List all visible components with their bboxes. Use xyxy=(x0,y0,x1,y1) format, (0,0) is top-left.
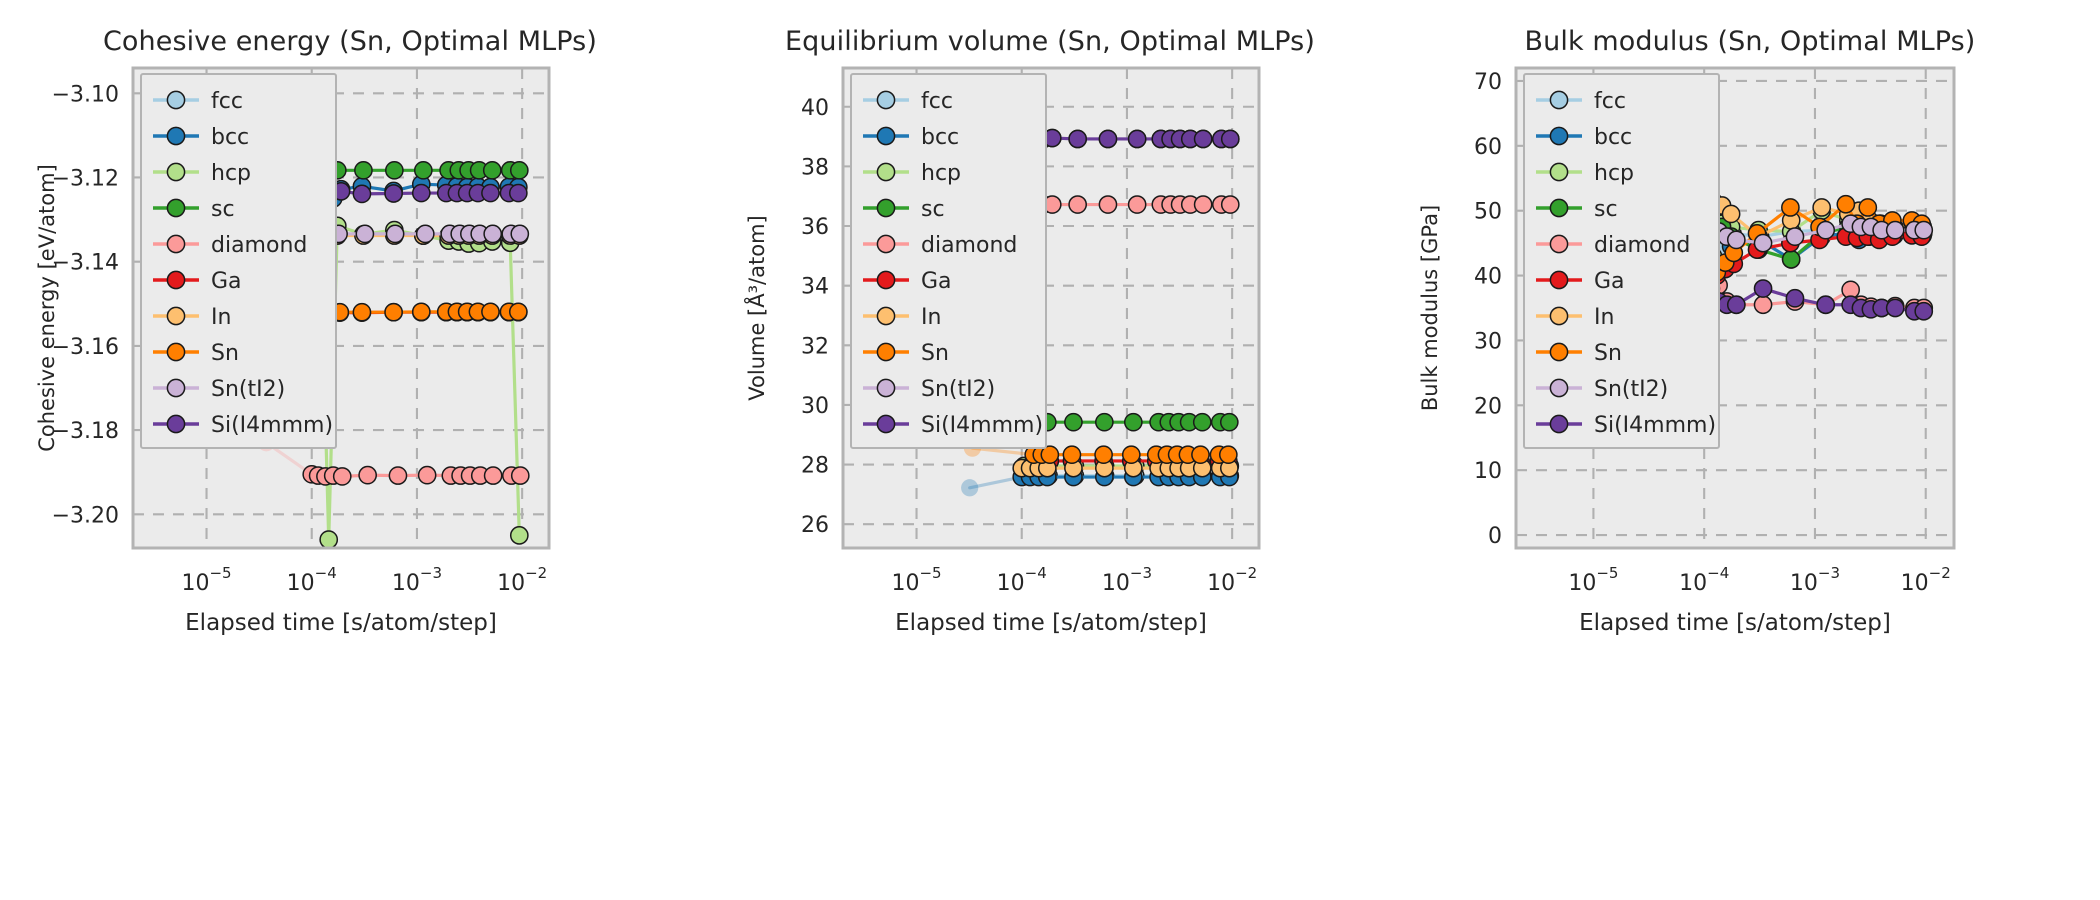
y-tick-label: −3.20 xyxy=(52,503,119,528)
legend: fccbcchcpscdiamondGaInSnSn(tI2)Si(I4mmm) xyxy=(141,74,336,448)
x-tick-label: 10−5 xyxy=(1568,564,1618,596)
y-axis-label: Bulk modulus [GPa] xyxy=(1418,205,1442,411)
data-point xyxy=(385,304,402,321)
legend-marker xyxy=(877,379,894,396)
y-tick-label: −3.18 xyxy=(52,419,119,444)
x-tick-label: 10−5 xyxy=(891,564,941,596)
legend-marker xyxy=(167,415,184,432)
data-point xyxy=(485,467,502,484)
legend-marker xyxy=(877,199,894,216)
y-tick-label: 10 xyxy=(1474,459,1502,484)
data-point xyxy=(386,225,403,242)
data-point xyxy=(1065,414,1082,431)
data-point xyxy=(1099,196,1116,213)
data-point xyxy=(1786,228,1803,245)
data-point xyxy=(1915,303,1932,320)
data-point xyxy=(1723,205,1740,222)
y-tick-label: 40 xyxy=(801,96,829,121)
data-point xyxy=(1129,196,1146,213)
data-point xyxy=(484,162,501,179)
y-tick-label: 50 xyxy=(1474,200,1502,225)
data-point xyxy=(1887,299,1904,316)
x-tick-label: 10−3 xyxy=(1790,564,1840,596)
data-point xyxy=(511,527,528,544)
x-tick-label: 10−4 xyxy=(997,564,1047,596)
data-point xyxy=(961,479,978,496)
legend-label: Ga xyxy=(1594,269,1625,294)
legend-marker xyxy=(167,127,184,144)
y-tick-label: 40 xyxy=(1474,265,1502,290)
data-point xyxy=(484,225,501,242)
legend-label: Sn xyxy=(211,341,239,366)
legend-marker xyxy=(167,235,184,252)
legend-label: bcc xyxy=(211,125,249,150)
plot-area: −3.10−3.12−3.14−3.16−3.18−3.2010−510−410… xyxy=(133,68,669,658)
plot-area: 70605040302010010−510−410−310−2fccbcchcp… xyxy=(1516,68,2074,658)
legend-label: fcc xyxy=(1594,89,1626,114)
legend-marker xyxy=(1550,91,1567,108)
data-point xyxy=(1069,196,1086,213)
data-point xyxy=(1754,235,1771,252)
legend-label: hcp xyxy=(211,161,251,186)
figure-canvas: Cohesive energy (Sn, Optimal MLPs)Cohesi… xyxy=(0,0,2100,900)
x-tick-labels: 10−510−410−310−2 xyxy=(1568,564,1950,596)
data-point xyxy=(419,467,436,484)
data-point xyxy=(1813,199,1830,216)
legend-label: Sn(tI2) xyxy=(921,377,995,402)
y-axis-label: Volume [Å³/atom] xyxy=(745,215,769,400)
y-tick-label: 34 xyxy=(801,275,829,300)
data-point xyxy=(1915,222,1932,239)
legend-marker xyxy=(877,307,894,324)
data-point xyxy=(510,184,527,201)
chart-title: Cohesive energy (Sn, Optimal MLPs) xyxy=(0,26,700,57)
y-axis-label: Cohesive energy [eV/atom] xyxy=(35,164,59,452)
legend-label: hcp xyxy=(1594,161,1634,186)
data-point xyxy=(1817,222,1834,239)
legend-marker xyxy=(877,163,894,180)
data-point xyxy=(1754,280,1771,297)
y-tick-label: 28 xyxy=(801,454,829,479)
data-point xyxy=(1192,446,1209,463)
data-point xyxy=(1096,414,1113,431)
legend-marker xyxy=(1550,343,1567,360)
legend-marker xyxy=(167,307,184,324)
data-point xyxy=(1786,290,1803,307)
legend-marker xyxy=(1550,235,1567,252)
data-point xyxy=(1754,296,1771,313)
data-point xyxy=(1222,196,1239,213)
y-tick-label: 70 xyxy=(1474,70,1502,95)
legend-marker xyxy=(167,91,184,108)
data-point xyxy=(1123,446,1140,463)
legend-marker xyxy=(1550,379,1567,396)
y-tick-label: 60 xyxy=(1474,135,1502,160)
y-tick-label: 20 xyxy=(1474,394,1502,419)
y-tick-label: 0 xyxy=(1488,524,1502,549)
data-point xyxy=(511,225,528,242)
legend-label: bcc xyxy=(1594,125,1632,150)
legend-marker xyxy=(877,91,894,108)
data-point xyxy=(1782,199,1799,216)
data-point xyxy=(510,303,527,320)
legend-marker xyxy=(167,271,184,288)
data-point xyxy=(1728,296,1745,313)
data-point xyxy=(320,531,337,548)
data-point xyxy=(334,468,351,485)
data-point xyxy=(413,184,430,201)
legend-label: fcc xyxy=(921,89,953,114)
legend-marker xyxy=(877,271,894,288)
x-tick-labels: 10−510−410−310−2 xyxy=(891,564,1257,596)
data-point xyxy=(482,184,499,201)
legend-label: Ga xyxy=(211,269,242,294)
x-tick-label: 10−4 xyxy=(287,564,337,596)
legend-marker xyxy=(1550,271,1567,288)
data-point xyxy=(413,303,430,320)
legend-label: sc xyxy=(211,197,235,222)
legend-label: sc xyxy=(921,197,945,222)
data-point xyxy=(386,162,403,179)
data-point xyxy=(1817,296,1834,313)
y-tick-label: −3.12 xyxy=(52,166,119,191)
y-tick-label: 26 xyxy=(801,513,829,538)
data-point xyxy=(359,467,376,484)
legend-marker xyxy=(877,127,894,144)
y-tick-labels: 706050403020100 xyxy=(1474,70,1502,549)
chart-title: Bulk modulus (Sn, Optimal MLPs) xyxy=(1400,26,2100,57)
chart-title: Equilibrium volume (Sn, Optimal MLPs) xyxy=(700,26,1400,57)
x-tick-labels: 10−510−410−310−2 xyxy=(181,564,547,596)
y-tick-labels: 4038363432302826 xyxy=(801,96,829,538)
legend-label: Si(I4mmm) xyxy=(921,413,1043,438)
legend-label: bcc xyxy=(921,125,959,150)
data-point xyxy=(512,467,529,484)
x-tick-label: 10−3 xyxy=(1102,564,1152,596)
data-point xyxy=(1069,130,1086,147)
legend: fccbcchcpscdiamondGaInSnSn(tI2)Si(I4mmm) xyxy=(851,74,1046,448)
data-point xyxy=(385,185,402,202)
x-tick-label: 10−4 xyxy=(1679,564,1729,596)
legend-label: Sn(tI2) xyxy=(211,377,285,402)
legend-label: Sn xyxy=(1594,341,1622,366)
legend-label: Si(I4mmm) xyxy=(1594,413,1716,438)
legend-label: Sn xyxy=(921,341,949,366)
legend-label: In xyxy=(211,305,231,330)
legend-label: Ga xyxy=(921,269,952,294)
chart-panel-cohesive-energy: Cohesive energy (Sn, Optimal MLPs)Cohesi… xyxy=(0,0,700,900)
data-point xyxy=(511,162,528,179)
data-point xyxy=(353,185,370,202)
legend-label: Sn(tI2) xyxy=(1594,377,1668,402)
legend-label: sc xyxy=(1594,197,1618,222)
legend-marker xyxy=(167,379,184,396)
data-point xyxy=(1859,199,1876,216)
chart-panel-bulk-modulus: Bulk modulus (Sn, Optimal MLPs)Bulk modu… xyxy=(1400,0,2100,900)
legend-marker xyxy=(877,415,894,432)
legend-label: diamond xyxy=(1594,233,1690,258)
data-point xyxy=(389,467,406,484)
data-point xyxy=(1783,251,1800,268)
y-tick-label: −3.14 xyxy=(52,251,119,276)
data-point xyxy=(1099,130,1116,147)
data-point xyxy=(355,162,372,179)
data-point xyxy=(1195,130,1212,147)
data-point xyxy=(1837,196,1854,213)
legend-label: diamond xyxy=(921,233,1017,258)
y-tick-label: 30 xyxy=(801,394,829,419)
data-point xyxy=(482,303,499,320)
y-tick-label: −3.10 xyxy=(52,82,119,107)
y-tick-label: 32 xyxy=(801,334,829,359)
x-tick-label: 10−2 xyxy=(497,564,547,596)
x-tick-label: 10−2 xyxy=(1207,564,1257,596)
legend-label: diamond xyxy=(211,233,307,258)
legend-marker xyxy=(877,235,894,252)
y-tick-label: −3.16 xyxy=(52,335,119,360)
data-point xyxy=(1222,130,1239,147)
data-point xyxy=(1063,446,1080,463)
legend-label: Si(I4mmm) xyxy=(211,413,333,438)
x-tick-label: 10−2 xyxy=(1901,564,1951,596)
y-tick-labels: −3.10−3.12−3.14−3.16−3.18−3.20 xyxy=(52,82,119,528)
x-tick-label: 10−3 xyxy=(392,564,442,596)
data-point xyxy=(1728,231,1745,248)
x-tick-label: 10−5 xyxy=(181,564,231,596)
data-point xyxy=(1195,196,1212,213)
legend: fccbcchcpscdiamondGaInSnSn(tI2)Si(I4mmm) xyxy=(1524,74,1719,448)
legend-marker xyxy=(1550,415,1567,432)
legend-marker xyxy=(167,343,184,360)
data-point xyxy=(417,225,434,242)
legend-marker xyxy=(167,199,184,216)
data-point xyxy=(1129,130,1146,147)
legend-label: hcp xyxy=(921,161,961,186)
data-point xyxy=(1220,446,1237,463)
data-point xyxy=(1095,446,1112,463)
legend-marker xyxy=(1550,199,1567,216)
plot-area: 403836343230282610−510−410−310−2fccbcchc… xyxy=(843,68,1379,658)
data-point xyxy=(1887,222,1904,239)
data-point xyxy=(356,225,373,242)
legend-marker xyxy=(167,163,184,180)
legend-label: fcc xyxy=(211,89,243,114)
y-tick-label: 38 xyxy=(801,155,829,180)
legend-marker xyxy=(1550,307,1567,324)
legend-label: In xyxy=(1594,305,1614,330)
y-tick-label: 30 xyxy=(1474,329,1502,354)
legend-marker xyxy=(877,343,894,360)
chart-panel-equilibrium-volume: Equilibrium volume (Sn, Optimal MLPs)Vol… xyxy=(700,0,1400,900)
data-point xyxy=(1221,414,1238,431)
legend-marker xyxy=(1550,127,1567,144)
legend-label: In xyxy=(921,305,941,330)
data-point xyxy=(353,304,370,321)
data-point xyxy=(1194,414,1211,431)
y-tick-label: 36 xyxy=(801,215,829,240)
data-point xyxy=(1125,414,1142,431)
data-point xyxy=(415,162,432,179)
legend-marker xyxy=(1550,163,1567,180)
